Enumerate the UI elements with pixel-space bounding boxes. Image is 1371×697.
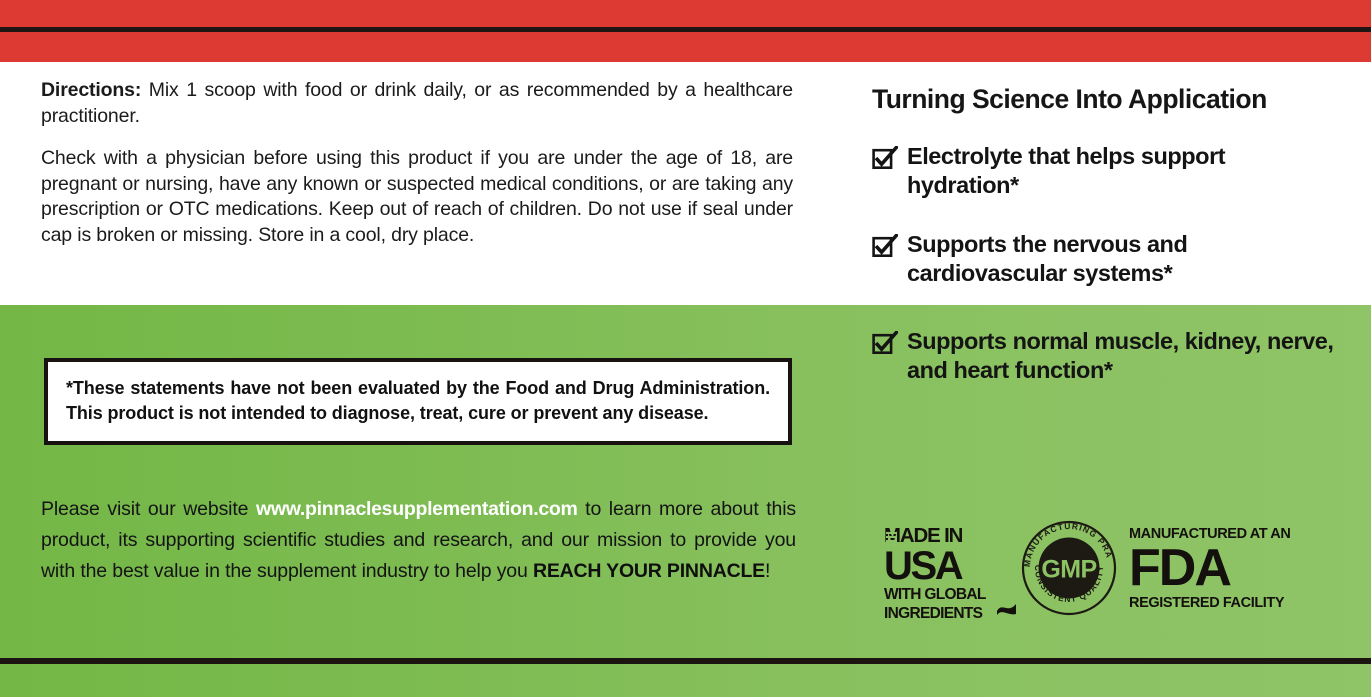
- website-lead-text: Please visit our website: [41, 498, 256, 520]
- top-red-band: [0, 0, 1371, 62]
- website-end-text: !: [765, 560, 770, 582]
- directions-label: Directions:: [41, 79, 141, 101]
- gmp-seal-badge: GOOD MANUFACTURING PRACTICE — CONSISTENT…: [1019, 518, 1119, 618]
- fda-disclaimer-text: *These statements have not been evaluate…: [66, 376, 770, 426]
- directions-body: Mix 1 scoop with food or drink daily, or…: [41, 79, 793, 127]
- bottom-divider-rule: [0, 658, 1371, 664]
- website-paragraph: Please visit our website www.pinnaclesup…: [41, 494, 796, 587]
- claim-item: Electrolyte that helps support hydration…: [872, 142, 1342, 199]
- flag-stripes-icon: [886, 532, 897, 546]
- website-url[interactable]: www.pinnaclesupplementation.com: [256, 498, 578, 520]
- made-in-usa-badge: MADE IN USA WITH GLOBAL INGREDIENTS: [884, 527, 1004, 622]
- claim-item: Supports normal muscle, kidney, nerve, a…: [872, 327, 1342, 384]
- claim-item: Supports the nervous and cardiovascular …: [872, 230, 1342, 287]
- certification-badges-row: MADE IN USA WITH GLOBAL INGREDIENTS: [884, 518, 1294, 618]
- directions-column: Directions: Mix 1 scoop with food or dri…: [41, 78, 793, 248]
- claim-text: Supports normal muscle, kidney, nerve, a…: [907, 327, 1342, 384]
- fda-wordmark: FDA: [1129, 543, 1294, 593]
- checked-checkbox-icon: [872, 146, 898, 170]
- warning-paragraph: Check with a physician before using this…: [41, 146, 793, 248]
- fda-line3: REGISTERED FACILITY: [1129, 595, 1294, 611]
- gmp-center-text: GMP: [1041, 556, 1096, 584]
- made-in-usa-line3: WITH GLOBAL: [884, 587, 1004, 604]
- claim-text: Electrolyte that helps support hydration…: [907, 142, 1342, 199]
- supplement-label-panel: Directions: Mix 1 scoop with food or dri…: [0, 0, 1371, 697]
- top-band-divider-rule: [0, 27, 1371, 32]
- claims-headline: Turning Science Into Application: [872, 84, 1342, 114]
- made-in-usa-wordmark: USA: [884, 545, 1004, 585]
- fda-registered-facility-badge: MANUFACTURED AT AN FDA REGISTERED FACILI…: [1129, 526, 1294, 611]
- claims-column: Turning Science Into Application Electro…: [872, 84, 1342, 384]
- checked-checkbox-icon: [872, 331, 898, 355]
- made-in-usa-line2: USA: [884, 547, 961, 585]
- fda-disclaimer-box: *These statements have not been evaluate…: [44, 358, 792, 445]
- made-in-usa-line4: INGREDIENTS: [884, 606, 1004, 623]
- checked-checkbox-icon: [872, 234, 898, 258]
- website-block: Please visit our website www.pinnaclesup…: [41, 494, 796, 587]
- reach-your-pinnacle-tagline: REACH YOUR PINNACLE: [533, 560, 765, 582]
- flag-wave-icon: [997, 600, 1017, 616]
- directions-paragraph: Directions: Mix 1 scoop with food or dri…: [41, 78, 793, 129]
- claim-text: Supports the nervous and cardiovascular …: [907, 230, 1342, 287]
